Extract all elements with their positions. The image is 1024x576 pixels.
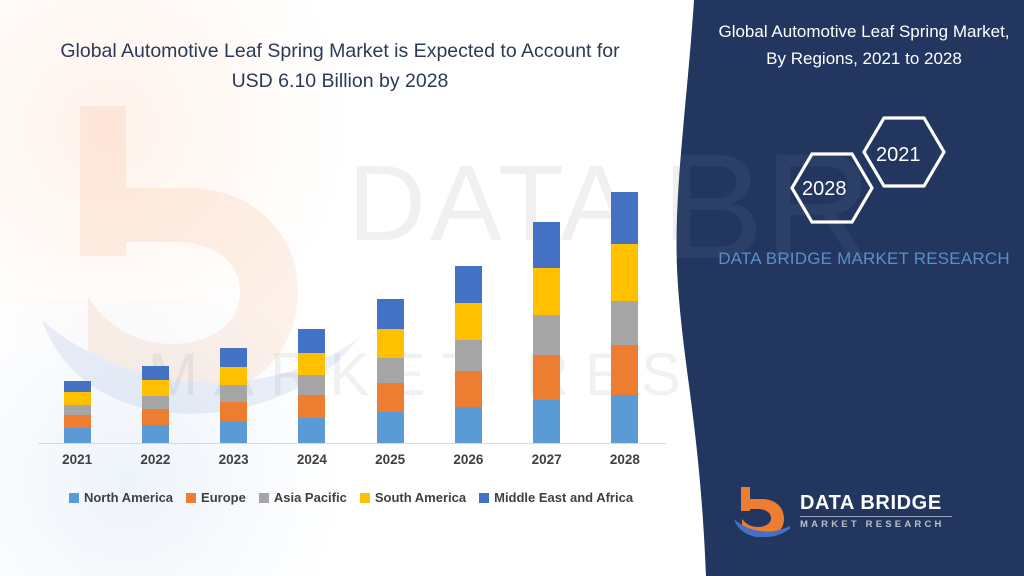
x-axis-label-2023: 2023 — [195, 452, 273, 467]
bar-slot-2023 — [195, 120, 273, 443]
bar-slot-2025 — [351, 120, 429, 443]
x-axis-label-2021: 2021 — [38, 452, 116, 467]
x-axis-label-2028: 2028 — [586, 452, 664, 467]
hex-2021-label: 2021 — [876, 144, 921, 167]
bar-segment — [455, 303, 482, 339]
brand-panel-subtitle: DATA BRIDGE MARKET RESEARCH — [714, 246, 1014, 271]
legend-swatch-icon — [186, 493, 196, 503]
bar-segment — [298, 418, 325, 443]
chart-legend: North AmericaEuropeAsia PacificSouth Ame… — [38, 490, 664, 505]
chart-title: Global Automotive Leaf Spring Market is … — [40, 36, 640, 96]
bar-segment — [64, 405, 91, 415]
legend-swatch-icon — [360, 493, 370, 503]
legend-item-south-america[interactable]: South America — [360, 490, 466, 505]
bar-slot-2026 — [429, 120, 507, 443]
stacked-bar-2024[interactable] — [298, 329, 325, 443]
data-bridge-logo: DATA BRIDGE MARKET RESEARCH — [732, 480, 1002, 542]
bar-segment — [64, 381, 91, 392]
bar-slot-2024 — [273, 120, 351, 443]
bar-segment — [142, 380, 169, 395]
bar-segment — [377, 299, 404, 329]
bar-segment — [220, 402, 247, 421]
legend-item-middle-east-and-africa[interactable]: Middle East and Africa — [479, 490, 633, 505]
legend-label: North America — [84, 490, 173, 505]
bar-segment — [533, 268, 560, 315]
bar-segment — [611, 192, 638, 245]
legend-item-asia-pacific[interactable]: Asia Pacific — [259, 490, 347, 505]
bar-segment — [455, 407, 482, 443]
bar-segment — [64, 428, 91, 443]
brand-panel-content: BR Global Automotive Leaf Spring Market,… — [704, 0, 1024, 576]
bar-segment — [611, 244, 638, 301]
stacked-bar-2028[interactable] — [611, 192, 638, 443]
infographic-stage: DATA BRIDGE MARKET RESEARCH Global Autom… — [0, 0, 1024, 576]
bar-segment — [377, 329, 404, 358]
stacked-bar-2023[interactable] — [220, 348, 247, 443]
bar-segment — [533, 315, 560, 355]
bar-segment — [298, 375, 325, 395]
hex-2028-label: 2028 — [802, 178, 847, 201]
x-axis-label-2026: 2026 — [429, 452, 507, 467]
data-bridge-b-logo-icon — [732, 485, 790, 537]
bar-slot-2021 — [38, 120, 116, 443]
legend-swatch-icon — [479, 493, 489, 503]
bar-segment — [142, 366, 169, 381]
legend-label: Europe — [201, 490, 246, 505]
bar-segment — [64, 415, 91, 428]
bar-segment — [455, 340, 482, 372]
brand-panel-title: Global Automotive Leaf Spring Market, By… — [714, 18, 1014, 72]
bar-segment — [533, 222, 560, 268]
stacked-bar-2026[interactable] — [455, 266, 482, 443]
hexagon-group: 2021 2028 — [764, 110, 974, 230]
bar-segment — [220, 421, 247, 443]
legend-label: South America — [375, 490, 466, 505]
x-axis-line — [38, 443, 666, 444]
bar-segment — [377, 412, 404, 443]
stacked-bar-2022[interactable] — [142, 366, 169, 443]
bar-segment — [142, 409, 169, 425]
bar-slot-2027 — [508, 120, 586, 443]
stacked-bar-2025[interactable] — [377, 299, 404, 443]
bar-segment — [611, 345, 638, 395]
x-axis-label-2025: 2025 — [351, 452, 429, 467]
bar-segment — [455, 371, 482, 407]
bar-segment — [220, 348, 247, 367]
bar-segment — [611, 395, 638, 443]
data-bridge-logo-text: DATA BRIDGE MARKET RESEARCH — [800, 493, 952, 530]
bar-segment — [533, 355, 560, 400]
bar-segment — [611, 301, 638, 345]
bar-segment — [377, 383, 404, 412]
logo-line-1: DATA BRIDGE — [800, 493, 952, 514]
legend-swatch-icon — [259, 493, 269, 503]
legend-label: Middle East and Africa — [494, 490, 633, 505]
legend-swatch-icon — [69, 493, 79, 503]
bar-segment — [533, 400, 560, 443]
bar-segment — [455, 266, 482, 304]
bar-segment — [377, 358, 404, 383]
bar-slot-2022 — [116, 120, 194, 443]
x-axis-label-2022: 2022 — [116, 452, 194, 467]
bar-segment — [298, 395, 325, 418]
logo-line-2: MARKET RESEARCH — [800, 519, 952, 530]
chart-panel: DATA BRIDGE MARKET RESEARCH Global Autom… — [0, 0, 704, 576]
x-axis-label-2024: 2024 — [273, 452, 351, 467]
bar-segment — [64, 392, 91, 404]
stacked-bar-2027[interactable] — [533, 222, 560, 443]
bar-segment — [298, 353, 325, 375]
legend-item-europe[interactable]: Europe — [186, 490, 246, 505]
bar-segment — [142, 396, 169, 409]
x-axis-labels: 20212022202320242025202620272028 — [38, 452, 664, 467]
bar-segment — [142, 425, 169, 443]
stacked-bar-chart — [38, 120, 664, 443]
logo-divider — [800, 516, 952, 517]
legend-label: Asia Pacific — [274, 490, 347, 505]
legend-item-north-america[interactable]: North America — [69, 490, 173, 505]
bar-segment — [298, 329, 325, 352]
bar-segment — [220, 367, 247, 386]
bar-slot-2028 — [586, 120, 664, 443]
bar-segment — [220, 385, 247, 401]
stacked-bar-2021[interactable] — [64, 381, 91, 443]
x-axis-label-2027: 2027 — [508, 452, 586, 467]
